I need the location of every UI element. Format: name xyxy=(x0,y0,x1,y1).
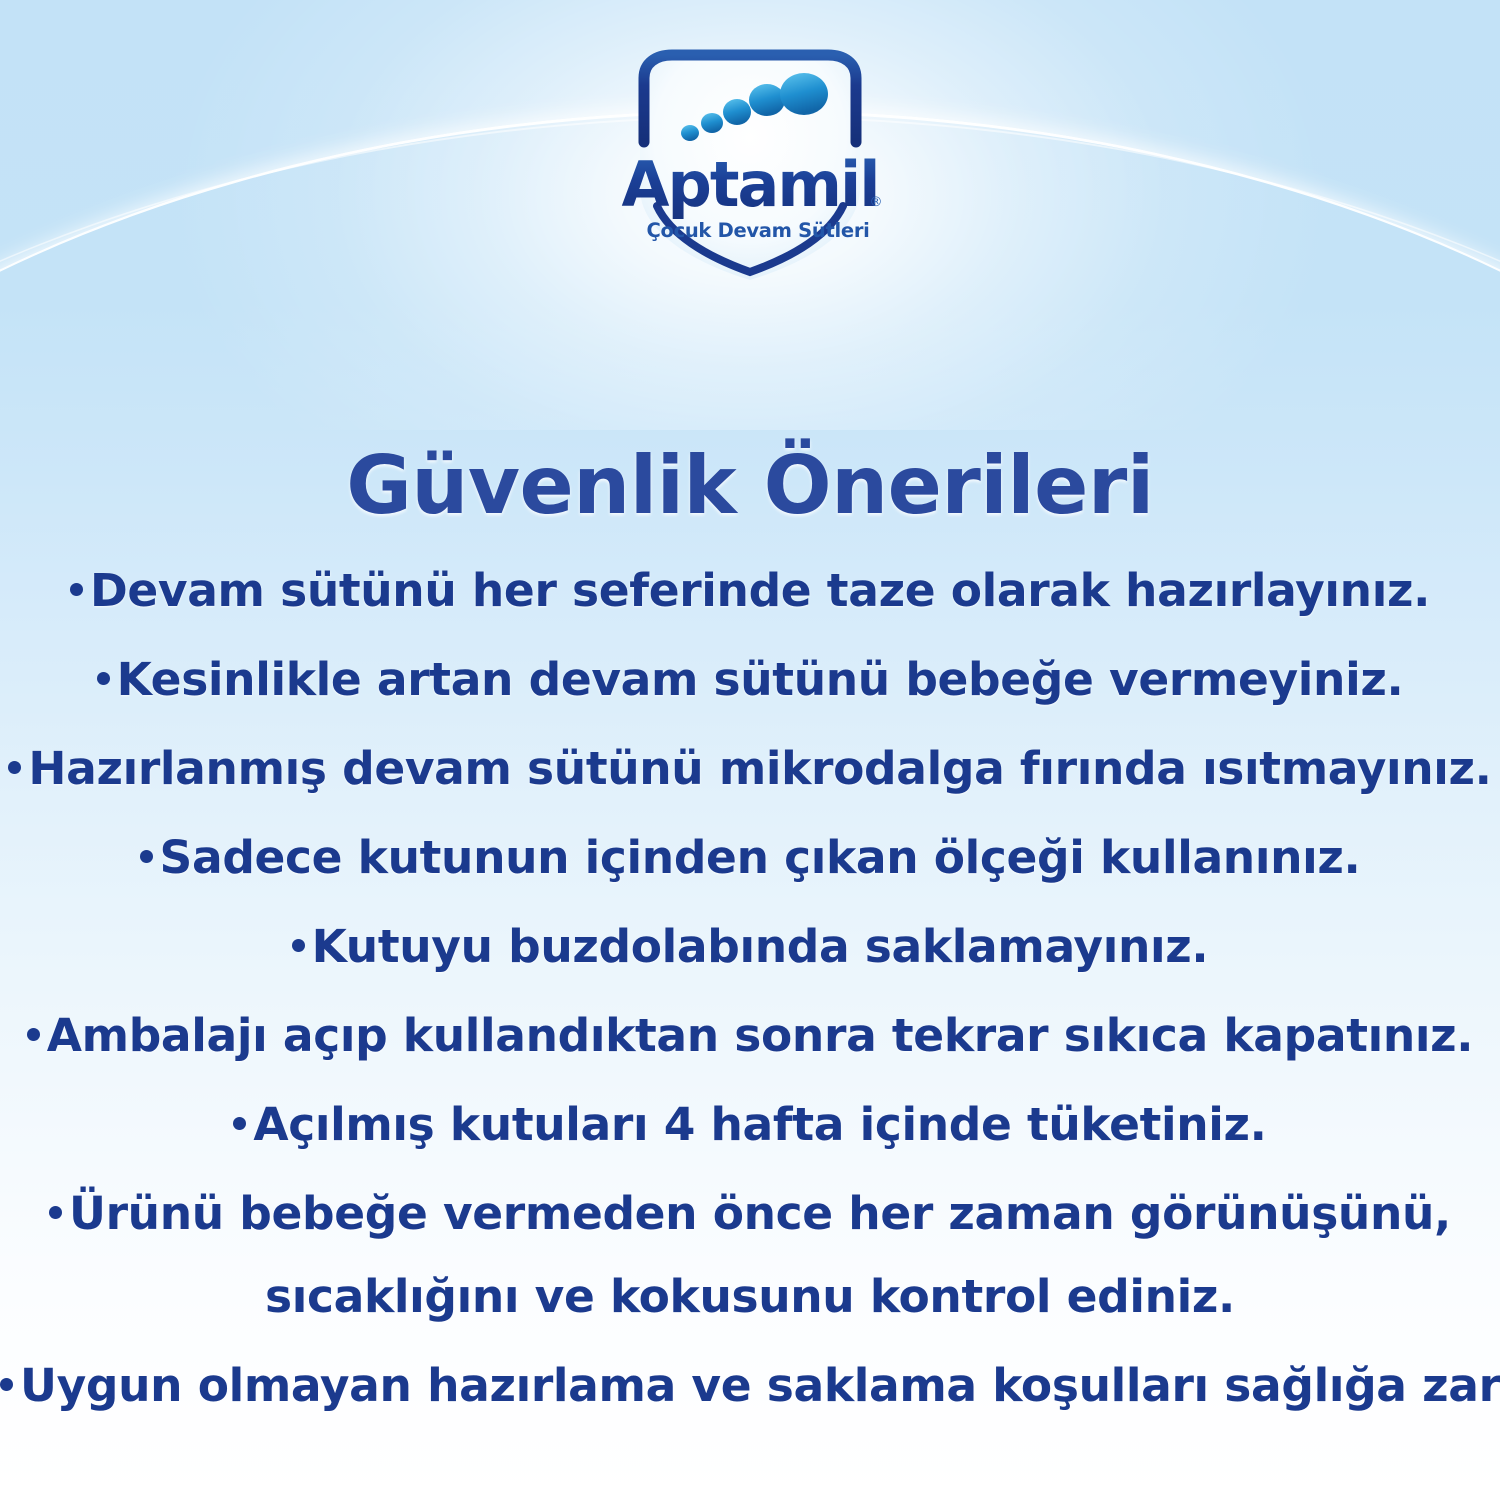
list-item-text: sıcaklığını ve kokusunu kontrol ediniz. xyxy=(265,1270,1235,1323)
bullet-dot-icon xyxy=(140,850,153,863)
logo-bubble-1 xyxy=(681,125,699,141)
logo-wordmark: Aptamil xyxy=(622,148,879,221)
bullet-dot-icon xyxy=(97,672,110,685)
list-item-text: Açılmış kutuları 4 hafta içinde tüketini… xyxy=(253,1098,1266,1151)
aptamil-logo-svg: Aptamil ® Çocuk Devam Sütleri xyxy=(600,38,900,288)
safety-tips-list: Devam sütünü her seferinde taze olarak h… xyxy=(0,553,1500,1423)
list-item-text: Ürünü bebeğe vermeden önce her zaman gör… xyxy=(69,1187,1451,1240)
page-title: Güvenlik Önerileri xyxy=(0,446,1500,526)
bullet-dot-icon xyxy=(292,939,305,952)
list-item-text: Kesinlikle artan devam sütünü bebeğe ver… xyxy=(117,653,1404,706)
list-item-text: Kutuyu buzdolabında saklamayınız. xyxy=(312,920,1209,973)
list-item: Açılmış kutuları 4 hafta içinde tüketini… xyxy=(0,1087,1500,1162)
logo-bubble-4 xyxy=(749,84,785,116)
bullet-dot-icon xyxy=(8,761,21,774)
aptamil-logo: Aptamil ® Çocuk Devam Sütleri xyxy=(600,38,900,288)
list-item: Uygun olmayan hazırlama ve saklama koşul… xyxy=(0,1348,1500,1423)
list-item-text: Hazırlanmış devam sütünü mikrodalga fırı… xyxy=(28,742,1491,795)
logo-bubble-3 xyxy=(723,99,751,125)
bullet-dot-icon xyxy=(27,1028,40,1041)
bullet-dot-icon xyxy=(233,1117,246,1130)
list-item: Kutuyu buzdolabında saklamayınız. xyxy=(0,909,1500,984)
list-item-text: Ambalajı açıp kullandıktan sonra tekrar … xyxy=(47,1009,1473,1062)
list-item-text: Devam sütünü her seferinde taze olarak h… xyxy=(90,564,1430,617)
bullet-dot-icon xyxy=(70,583,83,596)
list-item: Sadece kutunun içinden çıkan ölçeği kull… xyxy=(0,820,1500,895)
list-item: Devam sütünü her seferinde taze olarak h… xyxy=(0,553,1500,628)
list-item: Hazırlanmış devam sütünü mikrodalga fırı… xyxy=(0,731,1500,806)
list-item-text: Sadece kutunun içinden çıkan ölçeği kull… xyxy=(160,831,1361,884)
list-item: Ambalajı açıp kullandıktan sonra tekrar … xyxy=(0,998,1500,1073)
list-item-continuation: sıcaklığını ve kokusunu kontrol ediniz. xyxy=(0,1259,1500,1334)
list-item: Ürünü bebeğe vermeden önce her zaman gör… xyxy=(0,1176,1500,1251)
list-item: Kesinlikle artan devam sütünü bebeğe ver… xyxy=(0,642,1500,717)
bullet-dot-icon xyxy=(49,1206,62,1219)
list-item-text: Uygun olmayan hazırlama ve saklama koşul… xyxy=(20,1359,1500,1412)
bullet-dot-icon xyxy=(0,1378,13,1391)
logo-bubble-5 xyxy=(780,73,828,115)
logo-tagline: Çocuk Devam Sütleri xyxy=(646,219,869,242)
logo-bubble-2 xyxy=(701,113,723,133)
registered-trademark-icon: ® xyxy=(870,195,883,210)
safety-recommendations-poster: Aptamil ® Çocuk Devam Sütleri Güvenlik Ö… xyxy=(0,0,1500,1500)
